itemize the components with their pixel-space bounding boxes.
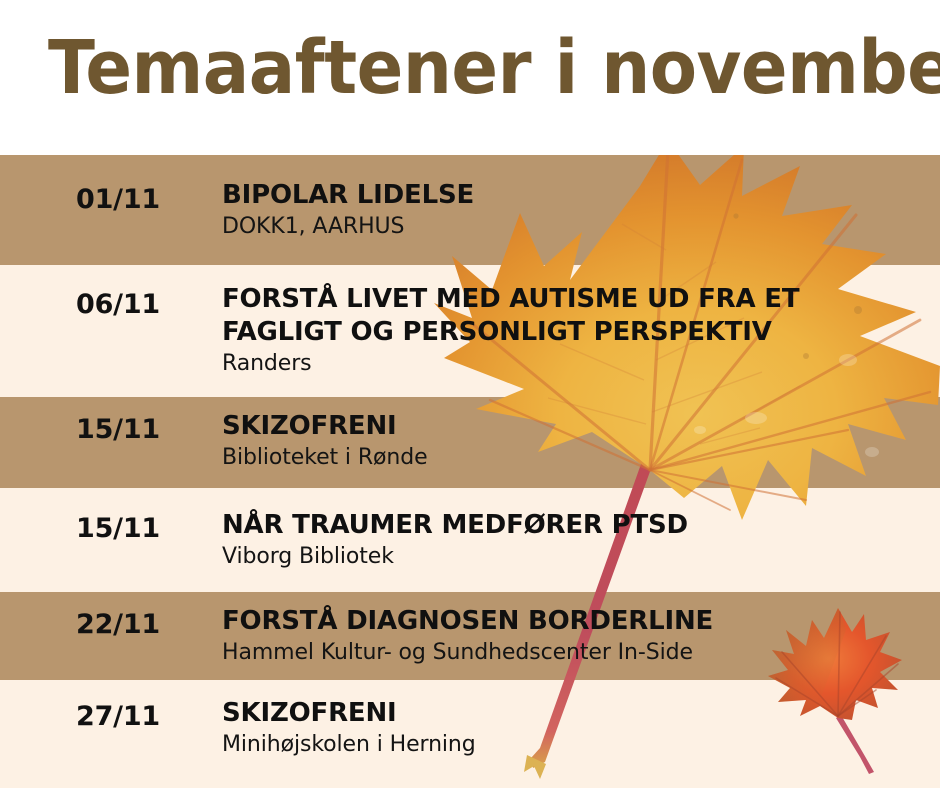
event-details: SKIZOFRENI Biblioteket i Rønde <box>222 410 922 472</box>
event-date: 27/11 <box>0 702 160 732</box>
event-date: 15/11 <box>0 514 160 544</box>
event-date: 15/11 <box>0 415 160 445</box>
event-title: FORSTÅ LIVET MED AUTISME UD FRA ET <box>222 283 922 316</box>
event-details: BIPOLAR LIDELSE DOKK1, AARHUS <box>222 179 922 241</box>
event-venue: DOKK1, AARHUS <box>222 213 922 241</box>
schedule-row[interactable]: 01/11 BIPOLAR LIDELSE DOKK1, AARHUS <box>0 155 940 265</box>
event-title-line-2: FAGLIGT OG PERSONLIGT PERSPEKTIV <box>222 316 922 349</box>
event-title: SKIZOFRENI <box>222 410 922 443</box>
schedule-row[interactable]: 27/11 SKIZOFRENI Minihøjskolen i Herning <box>0 680 940 788</box>
event-details: SKIZOFRENI Minihøjskolen i Herning <box>222 697 922 759</box>
poster-canvas: Temaaftener i november 01/11 BIPOLAR LID… <box>0 0 940 788</box>
event-title: BIPOLAR LIDELSE <box>222 179 922 212</box>
event-title: NÅR TRAUMER MEDFØRER PTSD <box>222 509 922 542</box>
event-details: FORSTÅ LIVET MED AUTISME UD FRA ET FAGLI… <box>222 283 922 378</box>
schedule-list: 01/11 BIPOLAR LIDELSE DOKK1, AARHUS 06/1… <box>0 0 940 788</box>
event-venue: Randers <box>222 350 922 378</box>
event-date: 06/11 <box>0 290 160 320</box>
event-venue: Hammel Kultur- og Sundhedscenter In-Side <box>222 639 922 667</box>
event-details: FORSTÅ DIAGNOSEN BORDERLINE Hammel Kultu… <box>222 605 922 667</box>
event-venue: Viborg Bibliotek <box>222 543 922 571</box>
event-date: 22/11 <box>0 610 160 640</box>
event-details: NÅR TRAUMER MEDFØRER PTSD Viborg Bibliot… <box>222 509 922 571</box>
event-venue: Biblioteket i Rønde <box>222 444 922 472</box>
schedule-row[interactable]: 06/11 FORSTÅ LIVET MED AUTISME UD FRA ET… <box>0 265 940 397</box>
event-date: 01/11 <box>0 185 160 215</box>
schedule-row[interactable]: 22/11 FORSTÅ DIAGNOSEN BORDERLINE Hammel… <box>0 592 940 680</box>
event-title: SKIZOFRENI <box>222 697 922 730</box>
schedule-row[interactable]: 15/11 SKIZOFRENI Biblioteket i Rønde <box>0 397 940 488</box>
event-venue: Minihøjskolen i Herning <box>222 731 922 759</box>
schedule-row[interactable]: 15/11 NÅR TRAUMER MEDFØRER PTSD Viborg B… <box>0 488 940 592</box>
event-title: FORSTÅ DIAGNOSEN BORDERLINE <box>222 605 922 638</box>
